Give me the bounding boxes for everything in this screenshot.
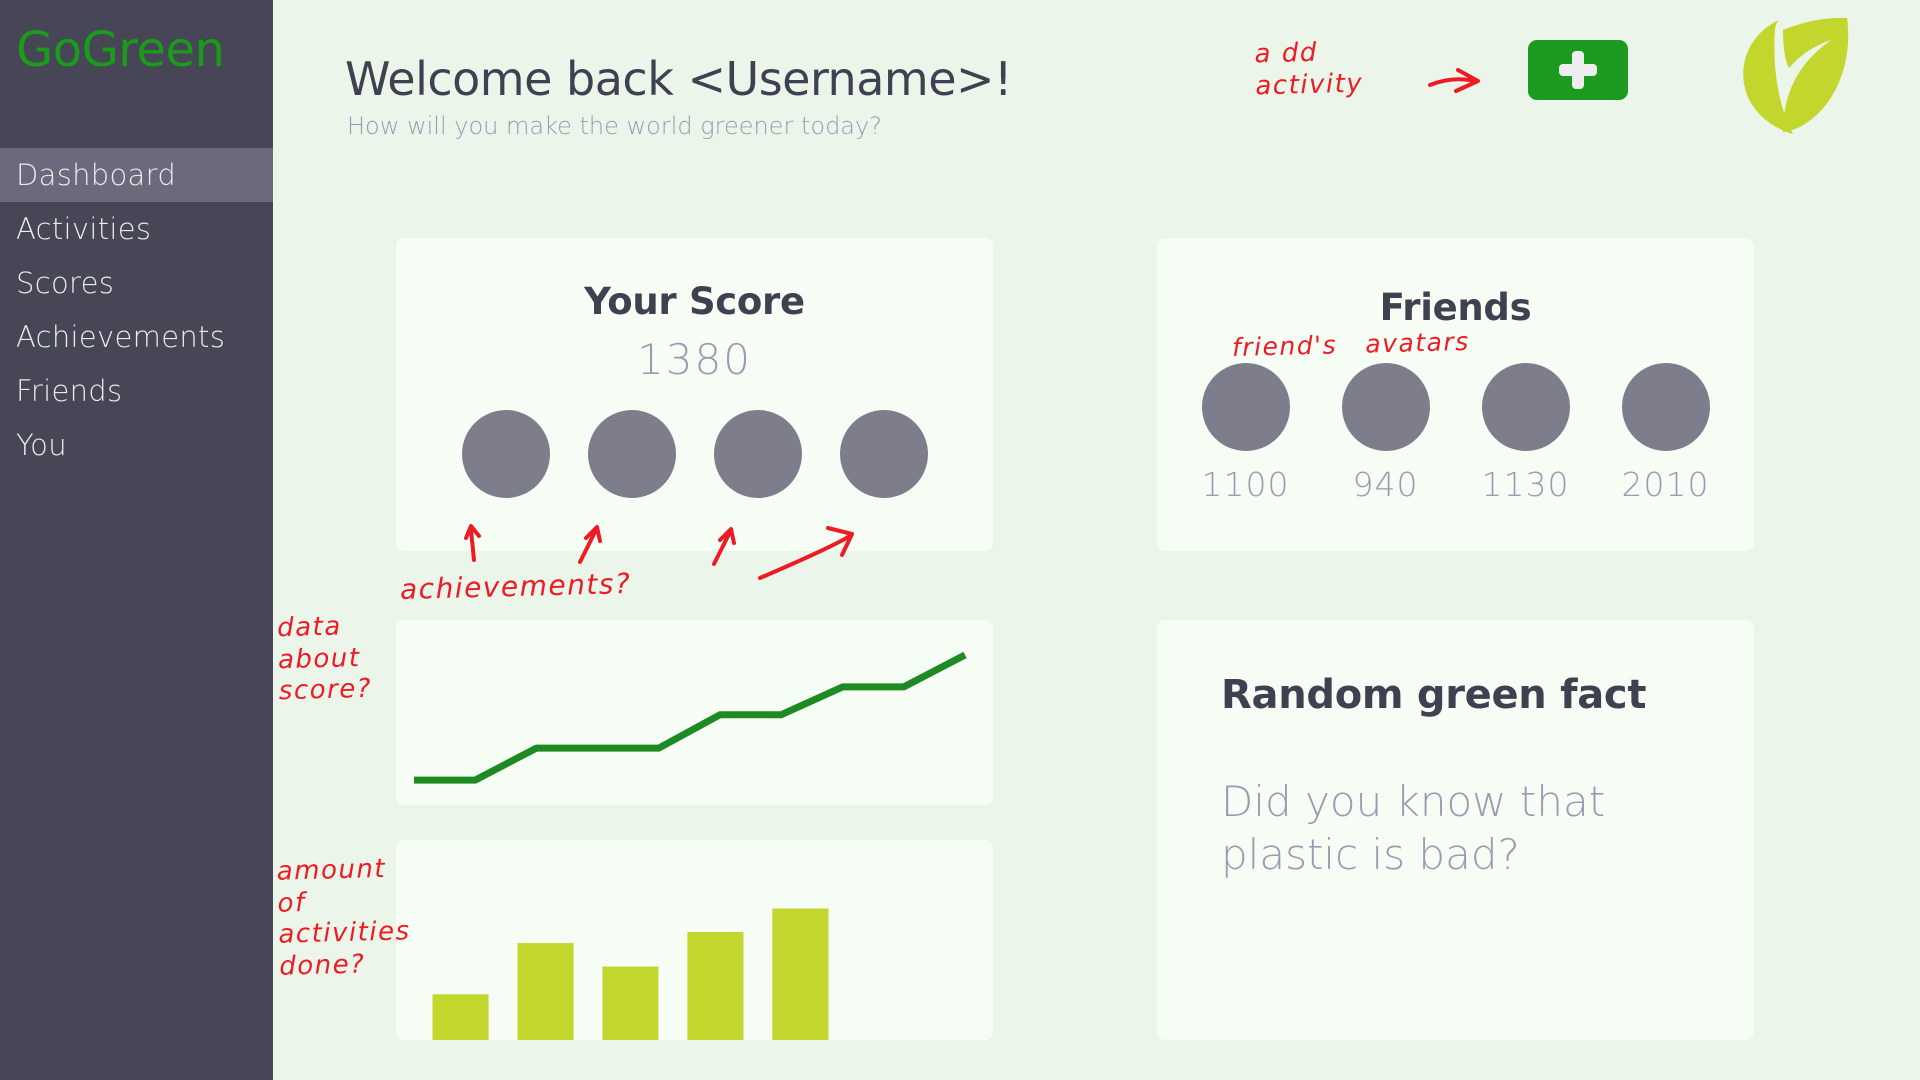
activities-bar-chart — [396, 840, 993, 1040]
annotation-score-data: data about score? — [277, 611, 373, 709]
score-card: Your Score 1380 — [396, 238, 993, 551]
friend-entry[interactable]: 2010 — [1622, 363, 1710, 504]
annotation-achievements: achievements? — [400, 567, 632, 607]
sidebar-item-dashboard[interactable]: Dashboard — [0, 148, 273, 202]
achievement-badge[interactable] — [588, 410, 676, 498]
friend-entry[interactable]: 1130 — [1482, 363, 1570, 504]
friend-score: 1100 — [1202, 465, 1290, 504]
score-value: 1380 — [396, 335, 993, 384]
friend-entry[interactable]: 1100 — [1202, 363, 1290, 504]
add-activity-button[interactable] — [1528, 40, 1628, 100]
dashboard-page: GoGreen Dashboard Activities Scores Achi… — [0, 0, 1920, 1080]
sidebar-item-label: You — [16, 428, 67, 462]
sidebar-item-activities[interactable]: Activities — [0, 202, 273, 256]
bar — [602, 967, 658, 1040]
sidebar-item-label: Scores — [16, 266, 114, 300]
achievement-badge[interactable] — [840, 410, 928, 498]
page-title: Welcome back <Username>! — [345, 52, 1012, 106]
friend-score: 1130 — [1482, 465, 1570, 504]
bar — [687, 932, 743, 1040]
sidebar-item-label: Achievements — [16, 320, 225, 354]
score-line-chart-card — [396, 620, 993, 805]
score-line-chart — [396, 620, 993, 805]
annotation-activities-amount: amount of activities done? — [276, 853, 411, 983]
sidebar-item-scores[interactable]: Scores — [0, 256, 273, 310]
bar — [518, 943, 574, 1040]
bar — [433, 994, 489, 1040]
score-card-title: Your Score — [396, 280, 993, 323]
friends-card: Friends 1100 940 1130 2010 — [1157, 238, 1754, 551]
achievement-badge[interactable] — [462, 410, 550, 498]
sidebar-item-you[interactable]: You — [0, 418, 273, 472]
brand-logo-text[interactable]: GoGreen — [16, 22, 224, 78]
friend-score: 2010 — [1622, 465, 1710, 504]
page-header: Welcome back <Username>! How will you ma… — [273, 0, 1920, 160]
sidebar-item-achievements[interactable]: Achievements — [0, 310, 273, 364]
friends-card-title: Friends — [1157, 286, 1754, 329]
avatar[interactable] — [1202, 363, 1290, 451]
sidebar-item-friends[interactable]: Friends — [0, 364, 273, 418]
leaf-logo-icon — [1713, 8, 1853, 140]
avatar[interactable] — [1342, 363, 1430, 451]
friend-entry[interactable]: 940 — [1342, 363, 1430, 504]
friends-avatars-row: 1100 940 1130 2010 — [1157, 363, 1754, 504]
sidebar-nav: Dashboard Activities Scores Achievements… — [0, 148, 273, 472]
sidebar-item-label: Dashboard — [16, 158, 176, 192]
friend-score: 940 — [1353, 465, 1419, 504]
bar — [772, 909, 828, 1041]
plus-icon — [1559, 51, 1597, 89]
achievement-badge[interactable] — [714, 410, 802, 498]
random-green-fact-card: Random green fact Did you know that plas… — [1157, 620, 1754, 1040]
avatar[interactable] — [1622, 363, 1710, 451]
sidebar: GoGreen Dashboard Activities Scores Achi… — [0, 0, 273, 1080]
page-subtitle: How will you make the world greener toda… — [347, 112, 882, 140]
fact-card-title: Random green fact — [1221, 672, 1754, 718]
activities-bar-chart-card — [396, 840, 993, 1040]
sidebar-item-label: Friends — [16, 374, 122, 408]
sidebar-item-label: Activities — [16, 212, 151, 246]
avatar[interactable] — [1482, 363, 1570, 451]
fact-card-body: Did you know that plastic is bad? — [1221, 776, 1691, 881]
achievement-badges-row — [396, 410, 993, 498]
